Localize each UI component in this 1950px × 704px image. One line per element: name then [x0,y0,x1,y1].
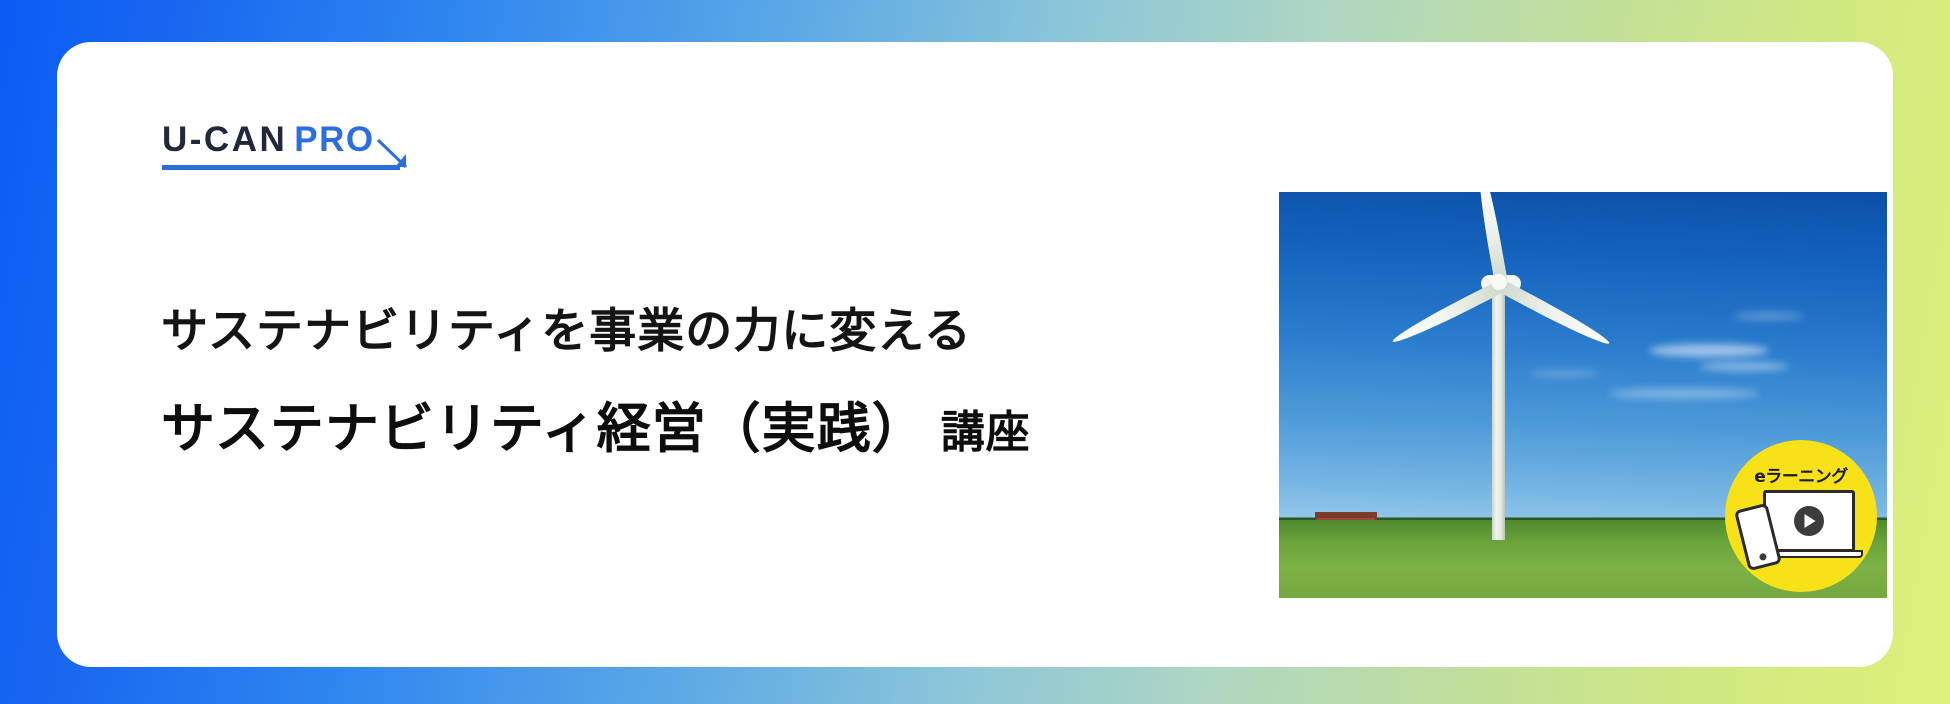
wind-turbine-tower [1492,276,1505,540]
headline-course-title: サステナビリティ経営（実践）講座 [161,397,1261,461]
white-content-card: U-CANPRO サステナビリティを事業の力に変える サステナビリティ経営（実践… [57,42,1893,667]
cloud-icon [1609,388,1759,399]
play-button-icon [1794,506,1824,536]
course-promo-banner: U-CANPRO サステナビリティを事業の力に変える サステナビリティ経営（実践… [0,0,1950,704]
cloud-icon [1649,344,1769,357]
cloud-icon [1734,312,1804,320]
course-photo: eラーニング [1279,192,1887,598]
elearning-badge-label: eラーニング [1725,462,1877,487]
cloud-icon [1699,362,1789,371]
ucan-pro-logo[interactable]: U-CANPRO [162,120,422,182]
smartphone-home-button-icon [1759,553,1767,561]
course-title-main: サステナビリティ経営（実践） [161,397,927,460]
headline-tagline: サステナビリティを事業の力に変える [161,304,1261,359]
play-triangle-icon [1804,514,1815,528]
elearning-badge: eラーニング [1725,440,1877,592]
logo-secondary-text: PRO [294,120,374,159]
logo-primary-text: U-CAN [162,120,287,159]
arrow-icon [376,138,410,171]
logo-wordmark: U-CANPRO [162,120,375,160]
logo-underline [162,165,400,170]
course-title-suffix: 講座 [941,407,1031,458]
headline-block: サステナビリティを事業の力に変える サステナビリティ経営（実践）講座 [161,304,1261,461]
cloud-icon [1529,370,1599,377]
wind-turbine-hub [1491,274,1507,290]
